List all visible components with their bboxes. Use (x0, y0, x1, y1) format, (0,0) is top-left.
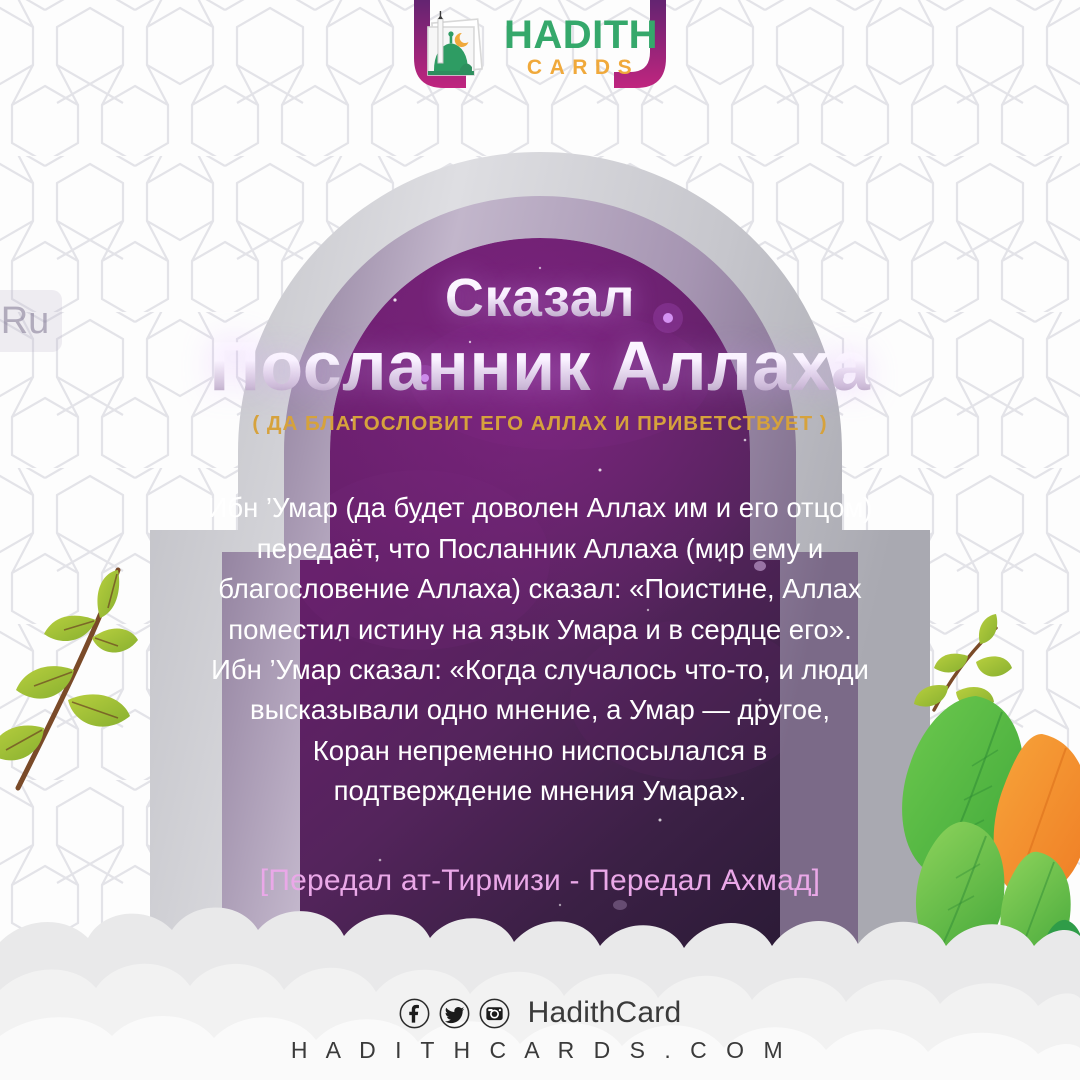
logo-hadith-text: HADITH (504, 15, 658, 55)
logo-cards-text: CARDS (504, 57, 658, 78)
footer-brand-handle: HadithCard (528, 996, 682, 1030)
leaf-sprig-left-decoration (0, 560, 190, 820)
mosque-photo-icon (422, 11, 494, 81)
footer-social-row: HadithCard (0, 996, 1080, 1030)
footer: HadithCard H A D I T H C A R D S . C O M (0, 996, 1080, 1064)
footer-website: H A D I T H C A R D S . C O M (0, 1037, 1080, 1064)
instagram-icon[interactable] (479, 998, 510, 1029)
twitter-icon[interactable] (439, 998, 470, 1029)
language-badge-label: Ru (1, 300, 50, 343)
language-badge-ru: Ru (0, 290, 62, 352)
brand-logo: HADITH CARDS (422, 8, 658, 84)
hadith-card-image: HADITH CARDS Ru (0, 0, 1080, 1080)
facebook-icon[interactable] (399, 998, 430, 1029)
